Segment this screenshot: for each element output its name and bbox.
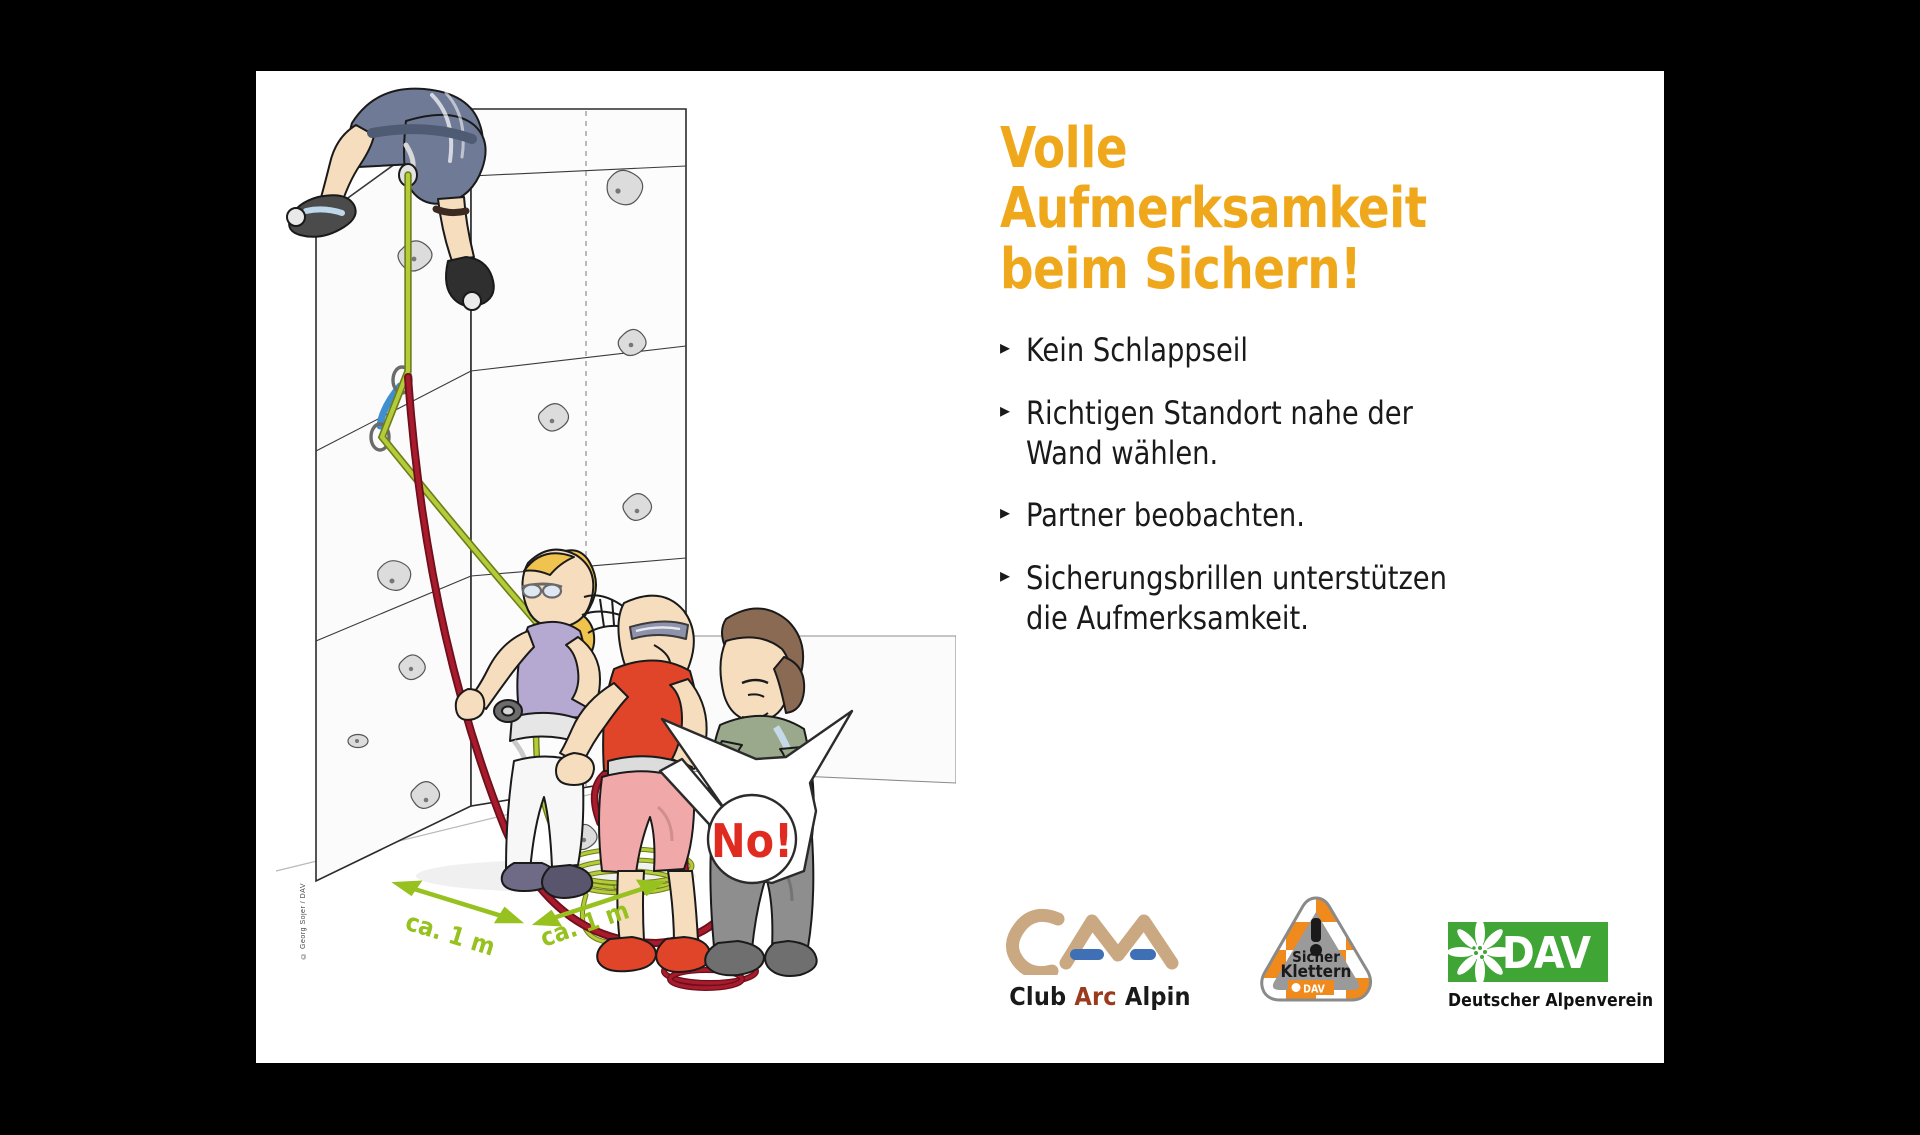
page-title: Volle Aufmerksamkeit beim Sichern! <box>1000 119 1539 300</box>
list-item: ▸ Richtigen Standort nahe der Wand wähle… <box>1000 393 1580 474</box>
sk-line-2: Klettern <box>1281 962 1352 982</box>
no-callout-text: No! <box>711 814 793 868</box>
climbing-scene-illustration: No! <box>256 71 956 1063</box>
list-item-label: Richtigen Standort nahe der Wand wählen. <box>1026 393 1413 474</box>
safety-bullet-list: ▸ Kein Schlappseil ▸ Richtigen Standort … <box>1000 330 1580 638</box>
caa-wordmark: Club Arc Alpin <box>1000 982 1200 1011</box>
caa-word-alpin: Alpin <box>1125 982 1191 1011</box>
bullet-triangle-icon: ▸ <box>1000 495 1026 527</box>
dav-mark-icon: DAV <box>1448 922 1608 982</box>
list-item-label: Kein Schlappseil <box>1026 330 1248 370</box>
sk-dav-label: DAV <box>1303 984 1325 996</box>
caa-word-arc: Arc <box>1074 982 1124 1011</box>
poster-root: No! <box>0 0 1920 1135</box>
caa-word-club: Club <box>1009 982 1074 1011</box>
list-item-label: Partner beobachten. <box>1026 495 1305 535</box>
logo-sicher-klettern: DAV Sicher Klettern <box>1256 894 1376 1011</box>
list-item-label: Sicherungsbrillen unterstützen die Aufme… <box>1026 558 1447 639</box>
illustration-panel: No! <box>256 71 956 1063</box>
text-column: Volle Aufmerksamkeit beim Sichern! ▸ Kei… <box>1000 119 1580 660</box>
list-item: ▸ Sicherungsbrillen unterstützen die Auf… <box>1000 558 1580 639</box>
logo-strip: Club Arc Alpin <box>1000 891 1620 1011</box>
bullet-triangle-icon: ▸ <box>1000 393 1026 425</box>
sicher-klettern-badge-icon: DAV Sicher Klettern <box>1256 894 1376 1006</box>
bullet-triangle-icon: ▸ <box>1000 558 1026 590</box>
poster-card: No! <box>256 71 1664 1063</box>
caa-mark-icon <box>1000 905 1200 975</box>
logo-dav: DAV Deutscher Alpenverein <box>1448 922 1620 1011</box>
illustration-credit: © Georg Sojer / DAV <box>300 883 307 959</box>
dav-wordmark: DAV <box>1502 928 1592 979</box>
bullet-triangle-icon: ▸ <box>1000 330 1026 362</box>
dav-subtitle: Deutscher Alpenverein <box>1448 991 1620 1011</box>
list-item: ▸ Partner beobachten. <box>1000 495 1580 535</box>
list-item: ▸ Kein Schlappseil <box>1000 330 1580 370</box>
logo-club-arc-alpin: Club Arc Alpin <box>1000 905 1200 1011</box>
